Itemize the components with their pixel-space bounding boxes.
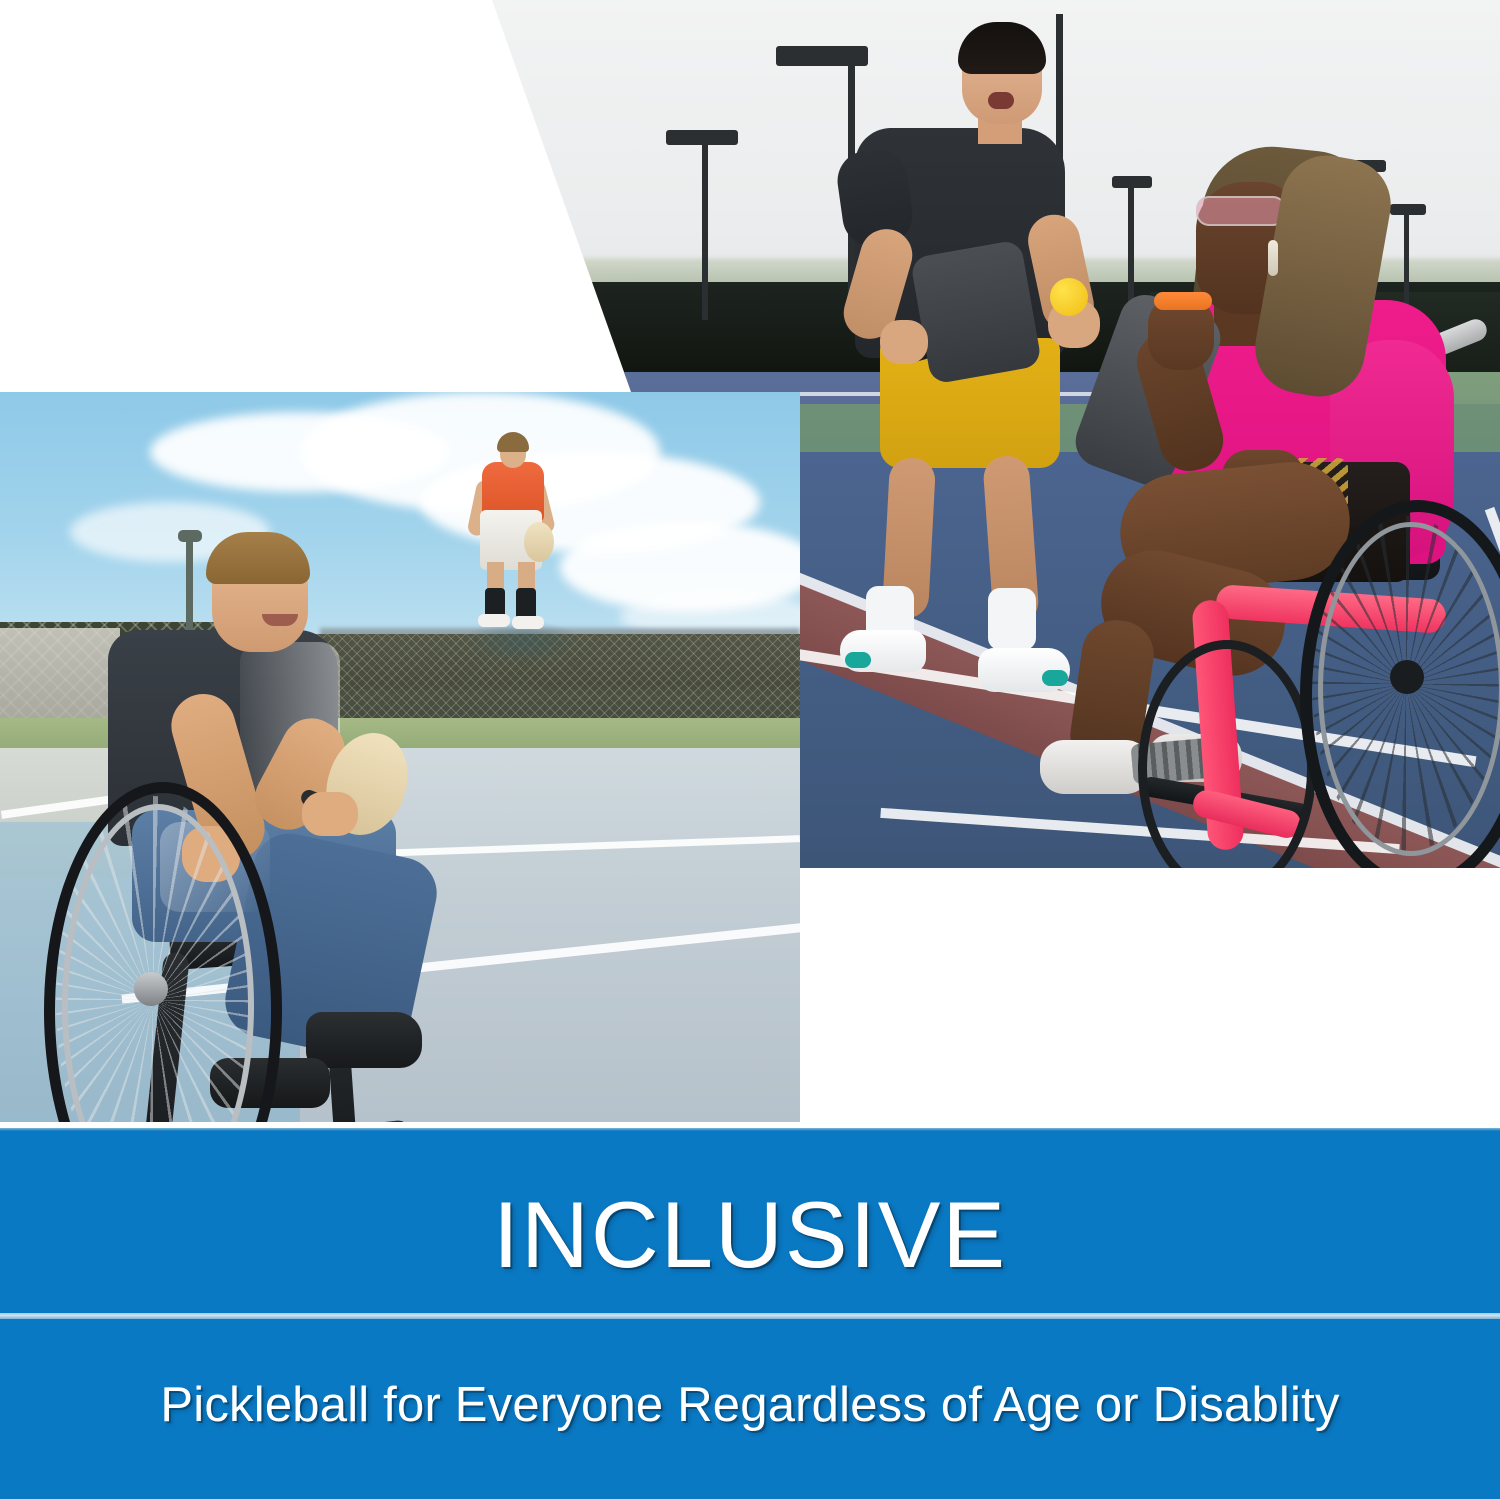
photo-wheelchair-player — [0, 392, 800, 1122]
light-pole-head — [1112, 176, 1152, 188]
wheelchair-hub — [134, 972, 168, 1006]
banner-divider-line — [0, 1313, 1500, 1319]
page-subtitle: Pickleball for Everyone Regardless of Ag… — [0, 1379, 1500, 1433]
player-female-earring — [1268, 240, 1278, 276]
pickleball-paddle-wood — [524, 522, 554, 562]
banner-top-edge — [0, 1128, 1500, 1131]
light-pole — [702, 140, 708, 320]
player-female-glasses — [1196, 196, 1286, 226]
page-title: INCLUSIVE — [0, 1188, 1500, 1282]
light-pole-head — [776, 46, 868, 66]
player-opponent-shoe-right — [512, 616, 544, 629]
wheelchair-hub — [1390, 660, 1424, 694]
player-male-hand-left — [880, 320, 928, 364]
poster-canvas: INCLUSIVE Pickleball for Everyone Regard… — [0, 0, 1500, 1499]
player-male-shoe-accent — [1042, 670, 1068, 686]
light-pole-head — [1390, 204, 1426, 215]
player-male-sock-right — [988, 588, 1036, 650]
light-pole-head — [178, 530, 202, 542]
background-building — [560, 300, 596, 382]
player-hand-right — [302, 792, 358, 836]
player-male-mouth — [988, 92, 1014, 109]
player-female-nails — [1154, 292, 1212, 310]
light-pole-head — [666, 130, 738, 145]
white-space-right — [800, 868, 1500, 1128]
pickleball-ball-yellow — [1050, 278, 1088, 316]
player-shoe-right — [306, 1012, 422, 1068]
pickleball-paddle-black — [910, 239, 1043, 385]
player-opponent-shoe-left — [478, 614, 510, 627]
player-male-shoe-accent — [845, 652, 871, 668]
